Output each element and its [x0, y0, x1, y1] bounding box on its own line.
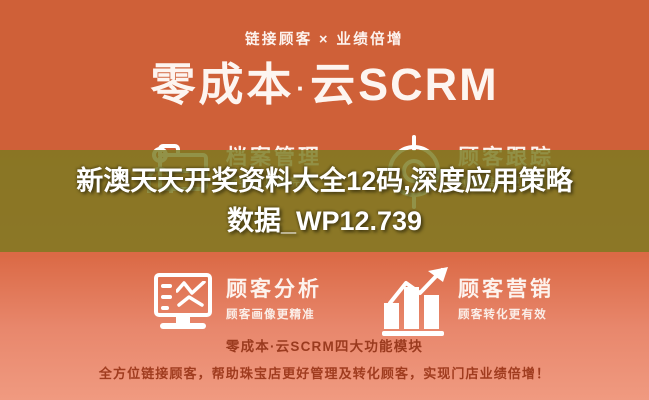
feature-title: 顾客分析: [226, 277, 322, 303]
monitor-base-shape: [160, 323, 206, 329]
feature-subtitle: 顾客画像更精准: [226, 306, 322, 324]
hero-title-brand: 零成本: [150, 59, 294, 110]
feature-item-analysis: 顾客分析 顾客画像更精准: [150, 248, 325, 352]
chart-bar-1: [384, 303, 399, 329]
growth-arrow-shape: [386, 267, 452, 307]
monitor-analysis-icon: [150, 267, 216, 333]
feature-text-marketing: 顾客营销 顾客转化更有效: [458, 277, 554, 324]
feature-row-bottom: 顾客分析 顾客画像更精准 顾客营销 顾客转化更有效: [0, 248, 649, 352]
monitor-bar-2: [161, 295, 172, 299]
caption-line-2: 全方位链接顾客，帮助珠宝店更好管理及转化顾客，实现门店业绩倍增！: [0, 365, 649, 383]
target-tick-top: [412, 135, 416, 151]
feature-subtitle: 顾客转化更有效: [458, 306, 554, 324]
chart-baseline-shape: [382, 331, 444, 336]
feature-title: 顾客营销: [458, 277, 554, 303]
chart-bar-2: [404, 287, 419, 329]
bar-chart-growth-icon: [382, 267, 448, 333]
hero-kicker: 链接顾客 × 业绩倍增: [0, 30, 649, 50]
poster-canvas: 链接顾客 × 业绩倍增 零成本·云SCRM 档案管理 顾客信息更完整: [0, 0, 649, 400]
overlay-headline: 新澳天天开奖资料大全12码,深度应用策略 数据_WP12.739: [0, 150, 649, 252]
chart-bar-3: [424, 295, 439, 329]
overlay-headline-line-1: 新澳天天开奖资料大全12码,深度应用策略: [76, 161, 573, 201]
monitor-bar-1: [161, 284, 172, 288]
hero-title-latin: SCRM: [358, 59, 499, 110]
hero-title: 零成本·云SCRM: [0, 58, 649, 115]
feature-item-marketing: 顾客营销 顾客转化更有效: [382, 248, 577, 352]
monitor-bar-3: [161, 306, 169, 310]
caption-line-1: 零成本·云SCRM四大功能模块: [0, 338, 649, 356]
hero-title-separator: ·: [294, 73, 310, 103]
feature-text-analysis: 顾客分析 顾客画像更精准: [226, 277, 322, 324]
overlay-headline-line-2: 数据_WP12.739: [227, 201, 422, 241]
monitor-zigzag-shape: [176, 281, 206, 309]
hero-title-cloud: 云: [310, 59, 358, 110]
